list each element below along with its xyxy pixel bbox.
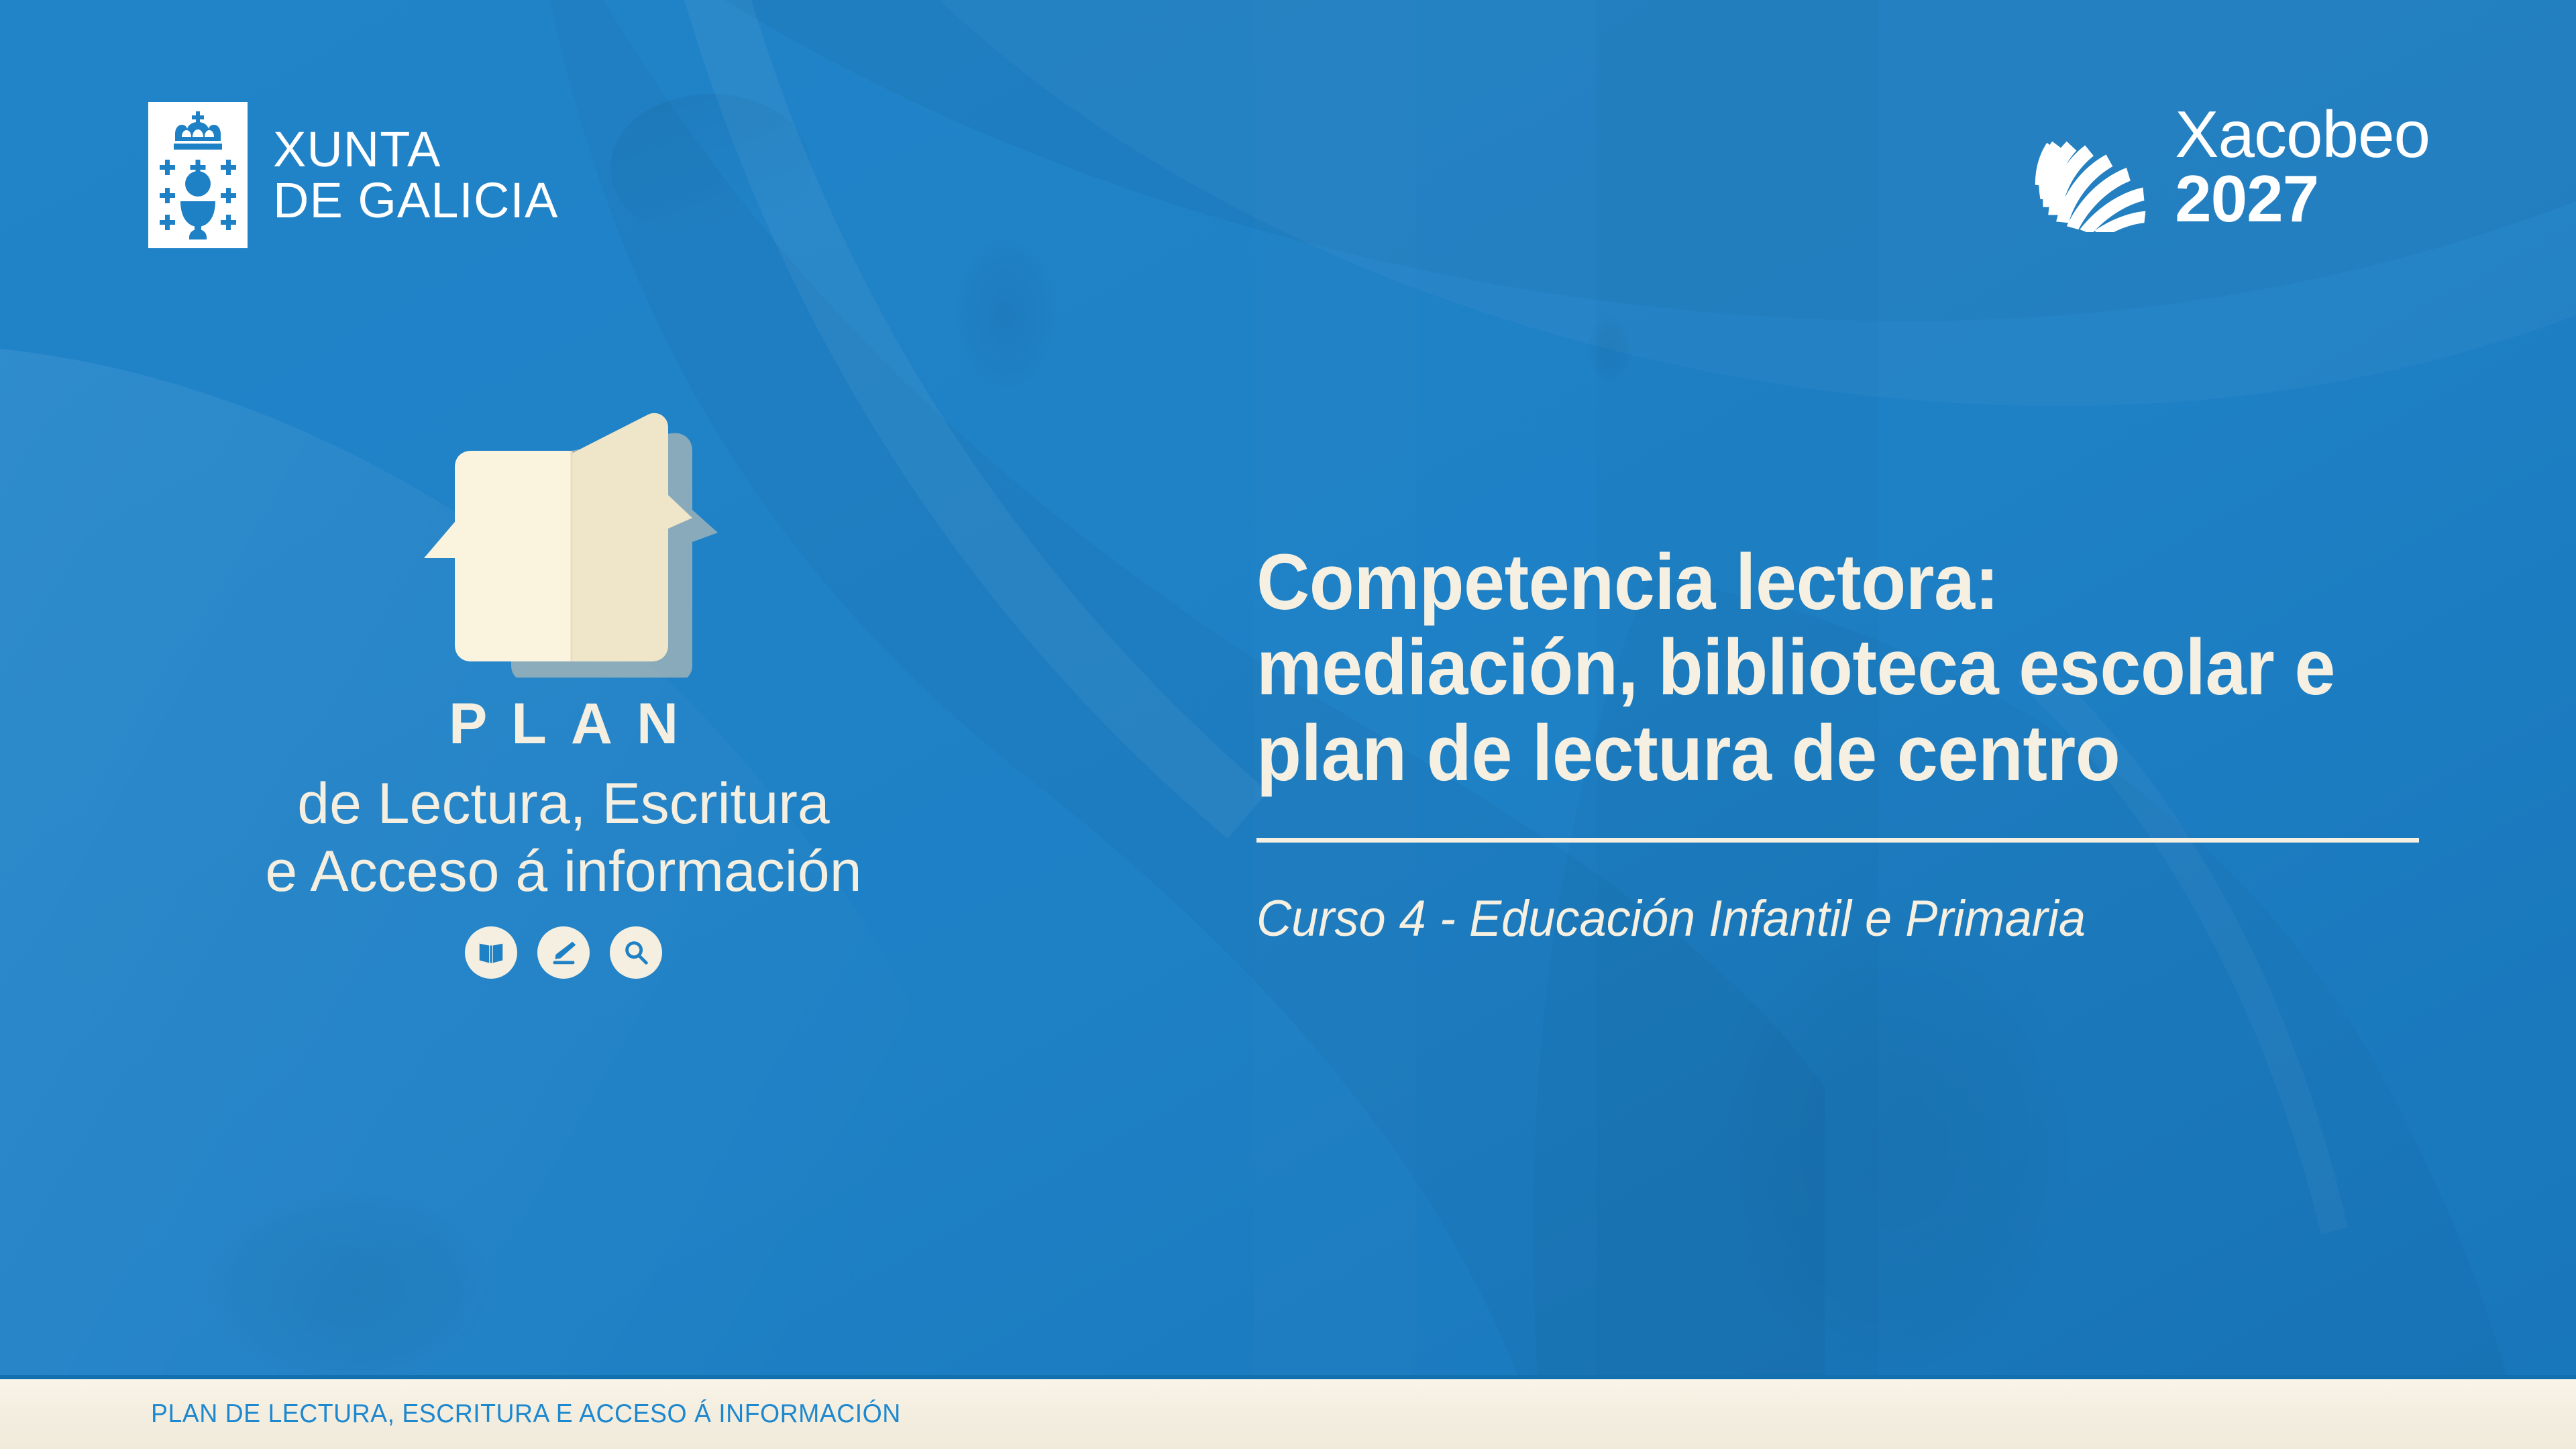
- xunta-de-galicia-logo: XUNTA DE GALICIA: [148, 102, 558, 248]
- xunta-wordmark: XUNTA DE GALICIA: [273, 124, 558, 226]
- open-book-glyph: [476, 937, 506, 968]
- title-divider: [1256, 838, 2419, 843]
- plan-icon-row: [107, 926, 1020, 979]
- title-line-3: plan de lectura de centro: [1256, 711, 2427, 796]
- open-book-house-icon: [376, 389, 751, 678]
- xunta-line-1: XUNTA: [273, 124, 558, 175]
- pencil-glyph: [548, 937, 579, 968]
- xacobeo-wordmark: Xacobeo 2027: [2175, 102, 2430, 231]
- plan-wordmark: PLAN: [107, 695, 1020, 753]
- scallop-shell-icon: [2026, 101, 2157, 232]
- footer-bar: PLAN DE LECTURA, ESCRITURA E ACCESO Á IN…: [0, 1375, 2576, 1449]
- page-subtitle: Curso 4 - Educación Infantil e Primaria: [1256, 891, 2369, 947]
- main-title-block: Competencia lectora: mediación, bibliote…: [1256, 540, 2427, 947]
- coat-of-arms-of-galicia-icon: [148, 102, 248, 248]
- title-line-1: Competencia lectora:: [1256, 540, 2427, 625]
- xacobeo-name: Xacobeo: [2175, 102, 2430, 166]
- xunta-line-2: DE GALICIA: [273, 175, 558, 226]
- presentation-slide: XUNTA DE GALICIA Xacobeo 2027: [0, 0, 2576, 1449]
- xacobeo-2027-logo: Xacobeo 2027: [2026, 101, 2430, 232]
- plan-subtitle-line-2: e Acceso á información: [107, 838, 1020, 906]
- pencil-writing-icon: [537, 926, 590, 979]
- title-line-2: mediación, biblioteca escolar e: [1256, 625, 2427, 710]
- plan-emblem-block: PLAN de Lectura, Escritura e Acceso á in…: [107, 389, 1020, 979]
- coat-of-arms-svg: [148, 102, 248, 248]
- magnifying-glass-icon: [610, 926, 662, 979]
- page-title: Competencia lectora: mediación, bibliote…: [1256, 540, 2427, 796]
- footer-label: PLAN DE LECTURA, ESCRITURA E ACCESO Á IN…: [151, 1399, 901, 1429]
- open-book-icon: [465, 926, 517, 979]
- xacobeo-year: 2027: [2175, 166, 2430, 231]
- magnifier-glyph: [621, 937, 651, 968]
- plan-subtitle-line-1: de Lectura, Escritura: [107, 770, 1020, 838]
